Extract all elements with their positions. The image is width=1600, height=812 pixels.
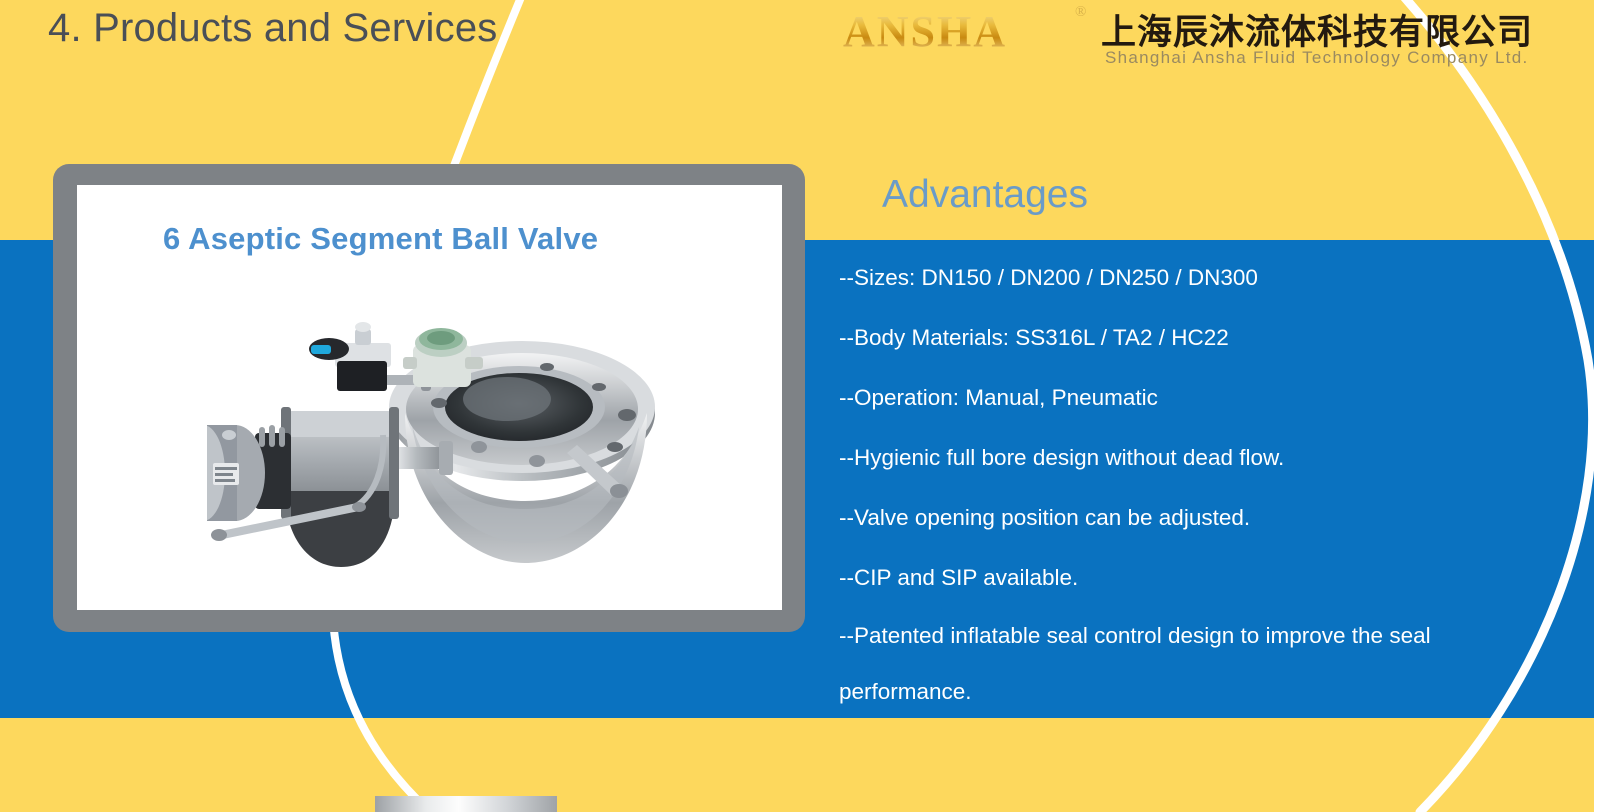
monitor-screen: 6 Aseptic Segment Ball Valve (77, 185, 782, 610)
advantage-item: --Hygienic full bore design without dead… (839, 428, 1539, 488)
logo-wordmark: ANSHA (843, 6, 1007, 57)
advantage-item: --Operation: Manual, Pneumatic (839, 368, 1539, 428)
advantage-item: --Valve opening position can be adjusted… (839, 488, 1539, 548)
monitor-stand-neck (375, 796, 557, 812)
advantage-item: --Body Materials: SS316L / TA2 / HC22 (839, 308, 1539, 368)
page-title: 4. Products and Services (48, 6, 497, 51)
advantages-heading: Advantages (882, 173, 1088, 217)
company-logo: ANSHA ® 上海辰沐流体科技有限公司 Shanghai Ansha Flui… (843, 2, 1583, 74)
product-photo (207, 295, 677, 595)
advantage-item: --Patented inflatable seal control desig… (839, 608, 1529, 720)
advantage-item: --Sizes: DN150 / DN200 / DN250 / DN300 (839, 248, 1539, 308)
advantages-list: --Sizes: DN150 / DN200 / DN250 / DN300 -… (839, 248, 1539, 720)
product-title: 6 Aseptic Segment Ball Valve (163, 221, 598, 257)
slide-canvas: 4. Products and Services ANSHA ® 上海辰沐流体科… (0, 0, 1600, 812)
logo-english-name: Shanghai Ansha Fluid Technology Company … (1105, 48, 1529, 68)
advantage-item: --CIP and SIP available. (839, 548, 1539, 608)
registered-trademark-icon: ® (1075, 4, 1086, 21)
monitor-mockup: 6 Aseptic Segment Ball Valve (53, 164, 805, 632)
